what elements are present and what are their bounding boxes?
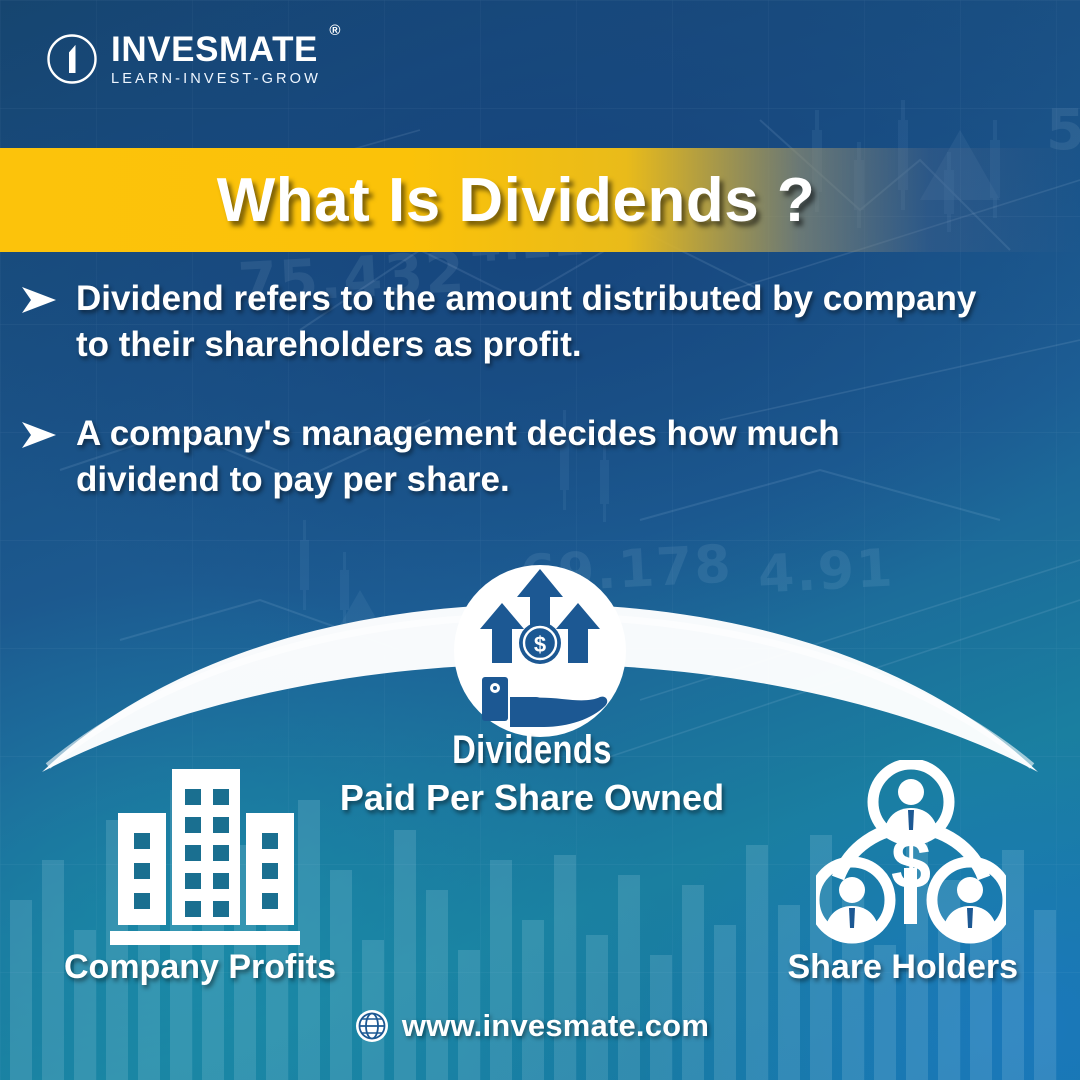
share-holders-label: Share Holders bbox=[787, 948, 1018, 987]
list-item: A company's management decides how much … bbox=[18, 411, 978, 502]
title-banner: What Is Dividends ? bbox=[0, 148, 1080, 252]
brand-logo: INVESMATE ® LEARN-INVEST-GROW bbox=[46, 32, 321, 87]
poster-canvas: 75.432 4.22 69.178 4.91 5 INVESMATE ® LE… bbox=[0, 0, 1080, 1080]
office-building-icon bbox=[100, 755, 310, 955]
footer: www.invesmate.com bbox=[0, 1008, 1072, 1044]
registered-mark: ® bbox=[329, 23, 341, 38]
infographic: $ Dividends Paid Per Share Owned bbox=[0, 560, 1080, 1030]
brand-logo-text: INVESMATE ® LEARN-INVEST-GROW bbox=[111, 32, 321, 87]
hand-dollar-arrows-icon: $ bbox=[440, 551, 640, 751]
page-title: What Is Dividends ? bbox=[217, 165, 816, 236]
company-profits-label: Company Profits bbox=[64, 948, 336, 987]
brand-name-wrapper: INVESMATE ® bbox=[111, 32, 321, 67]
arrow-bullet-icon bbox=[18, 420, 60, 450]
globe-icon bbox=[355, 1009, 389, 1043]
bullet-text: A company's management decides how much … bbox=[76, 411, 978, 502]
circle-i-logo-icon bbox=[46, 33, 98, 85]
shareholders-network-icon: $ bbox=[816, 760, 1006, 950]
brand-tagline: LEARN-INVEST-GROW bbox=[111, 72, 321, 87]
arrow-bullet-icon bbox=[18, 285, 60, 315]
bullet-list: Dividend refers to the amount distribute… bbox=[18, 276, 978, 546]
brand-name: INVESMATE bbox=[111, 30, 318, 69]
svg-text:$: $ bbox=[534, 632, 546, 657]
bullet-text: Dividend refers to the amount distribute… bbox=[76, 276, 978, 367]
list-item: Dividend refers to the amount distribute… bbox=[18, 276, 978, 367]
website-url: www.invesmate.com bbox=[402, 1008, 709, 1044]
